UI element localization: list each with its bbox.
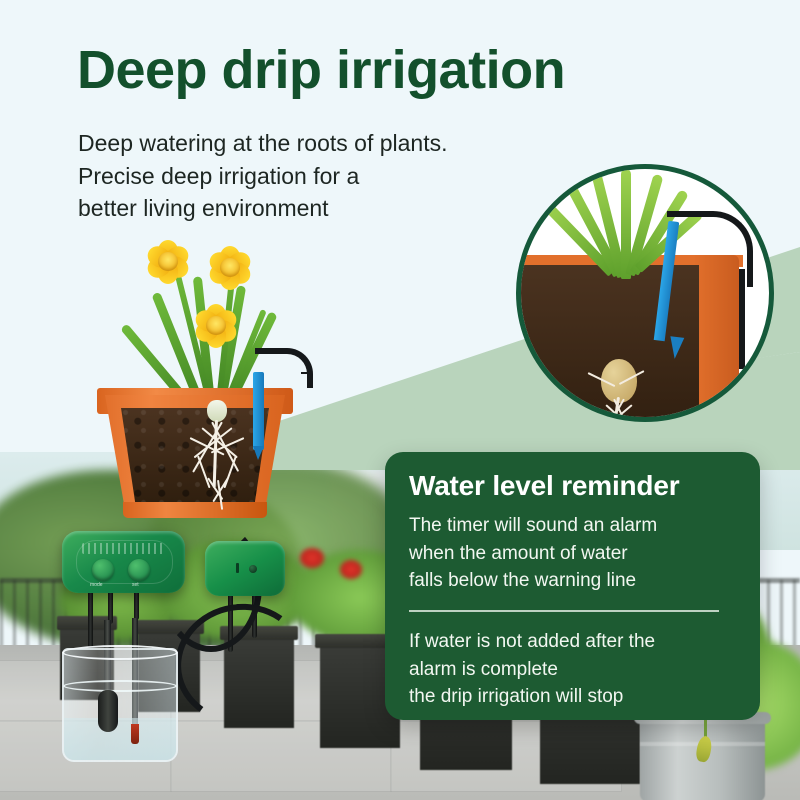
subtitle-line-1: Deep watering at the roots of plants.: [78, 127, 508, 160]
mode-button[interactable]: [92, 559, 114, 581]
card-p1-line-2: when the amount of water: [409, 540, 739, 568]
root-zone-closeup-inset: [516, 164, 774, 422]
lcd-display: [82, 543, 166, 554]
container-rim: [62, 645, 178, 660]
card-p1-line-1: The timer will sound an alarm: [409, 512, 739, 540]
card-p1-line-3: falls below the warning line: [409, 567, 739, 595]
infographic-canvas: Deep drip irrigation Deep watering at th…: [0, 0, 800, 800]
card-p2-line-3: the drip irrigation will stop: [409, 683, 744, 711]
power-led-icon: [249, 565, 257, 573]
red-flower: [340, 560, 362, 579]
pot-soil: [121, 408, 269, 510]
probe-tip: [131, 724, 139, 744]
inset-drip-spike-tip: [668, 336, 685, 360]
inset-drip-tube-down: [739, 269, 745, 369]
page-subtitle: Deep watering at the roots of plants. Pr…: [78, 127, 508, 225]
drip-spike: [253, 372, 264, 450]
device-cable: [108, 590, 113, 624]
mode-button-label: mode: [90, 582, 103, 588]
power-symbol-icon: [236, 563, 239, 573]
submersible-pump: [98, 690, 118, 732]
potted-plant-illustration: [95, 240, 335, 530]
card-divider: [409, 610, 719, 612]
daffodil-bloom: [145, 240, 191, 284]
drip-spike-tip: [253, 446, 264, 460]
page-title: Deep drip irrigation: [77, 42, 777, 99]
set-button-label: set: [132, 582, 139, 588]
card-heading: Water level reminder: [409, 470, 679, 502]
drip-tube-end: [301, 372, 307, 374]
bloom-corona: [220, 258, 240, 277]
device-cable: [134, 590, 139, 620]
pump-power-unit[interactable]: [205, 541, 285, 596]
red-flower: [300, 548, 324, 568]
water-container: [62, 648, 178, 762]
subtitle-line-2: Precise deep irrigation for a: [78, 160, 508, 193]
water-level-reminder-card: Water level reminder The timer will soun…: [385, 452, 760, 720]
irrigation-timer-controller[interactable]: mode set: [62, 531, 185, 593]
bloom-corona: [206, 316, 226, 335]
daffodil-bloom: [193, 304, 239, 348]
pot-base: [123, 502, 267, 518]
water-surface-line: [63, 680, 177, 692]
water-body: [64, 718, 176, 760]
device-cable: [88, 590, 93, 648]
card-paragraph-1: The timer will sound an alarm when the a…: [409, 512, 739, 595]
bloom-corona: [158, 252, 178, 271]
card-p2-line-1: If water is not added after the: [409, 628, 744, 656]
plant-neck: [207, 400, 227, 422]
card-paragraph-2: If water is not added after the alarm is…: [409, 628, 744, 711]
card-p2-line-2: alarm is complete: [409, 656, 744, 684]
set-button[interactable]: [128, 559, 150, 581]
daffodil-bloom: [207, 246, 253, 290]
subtitle-line-3: better living environment: [78, 192, 508, 225]
